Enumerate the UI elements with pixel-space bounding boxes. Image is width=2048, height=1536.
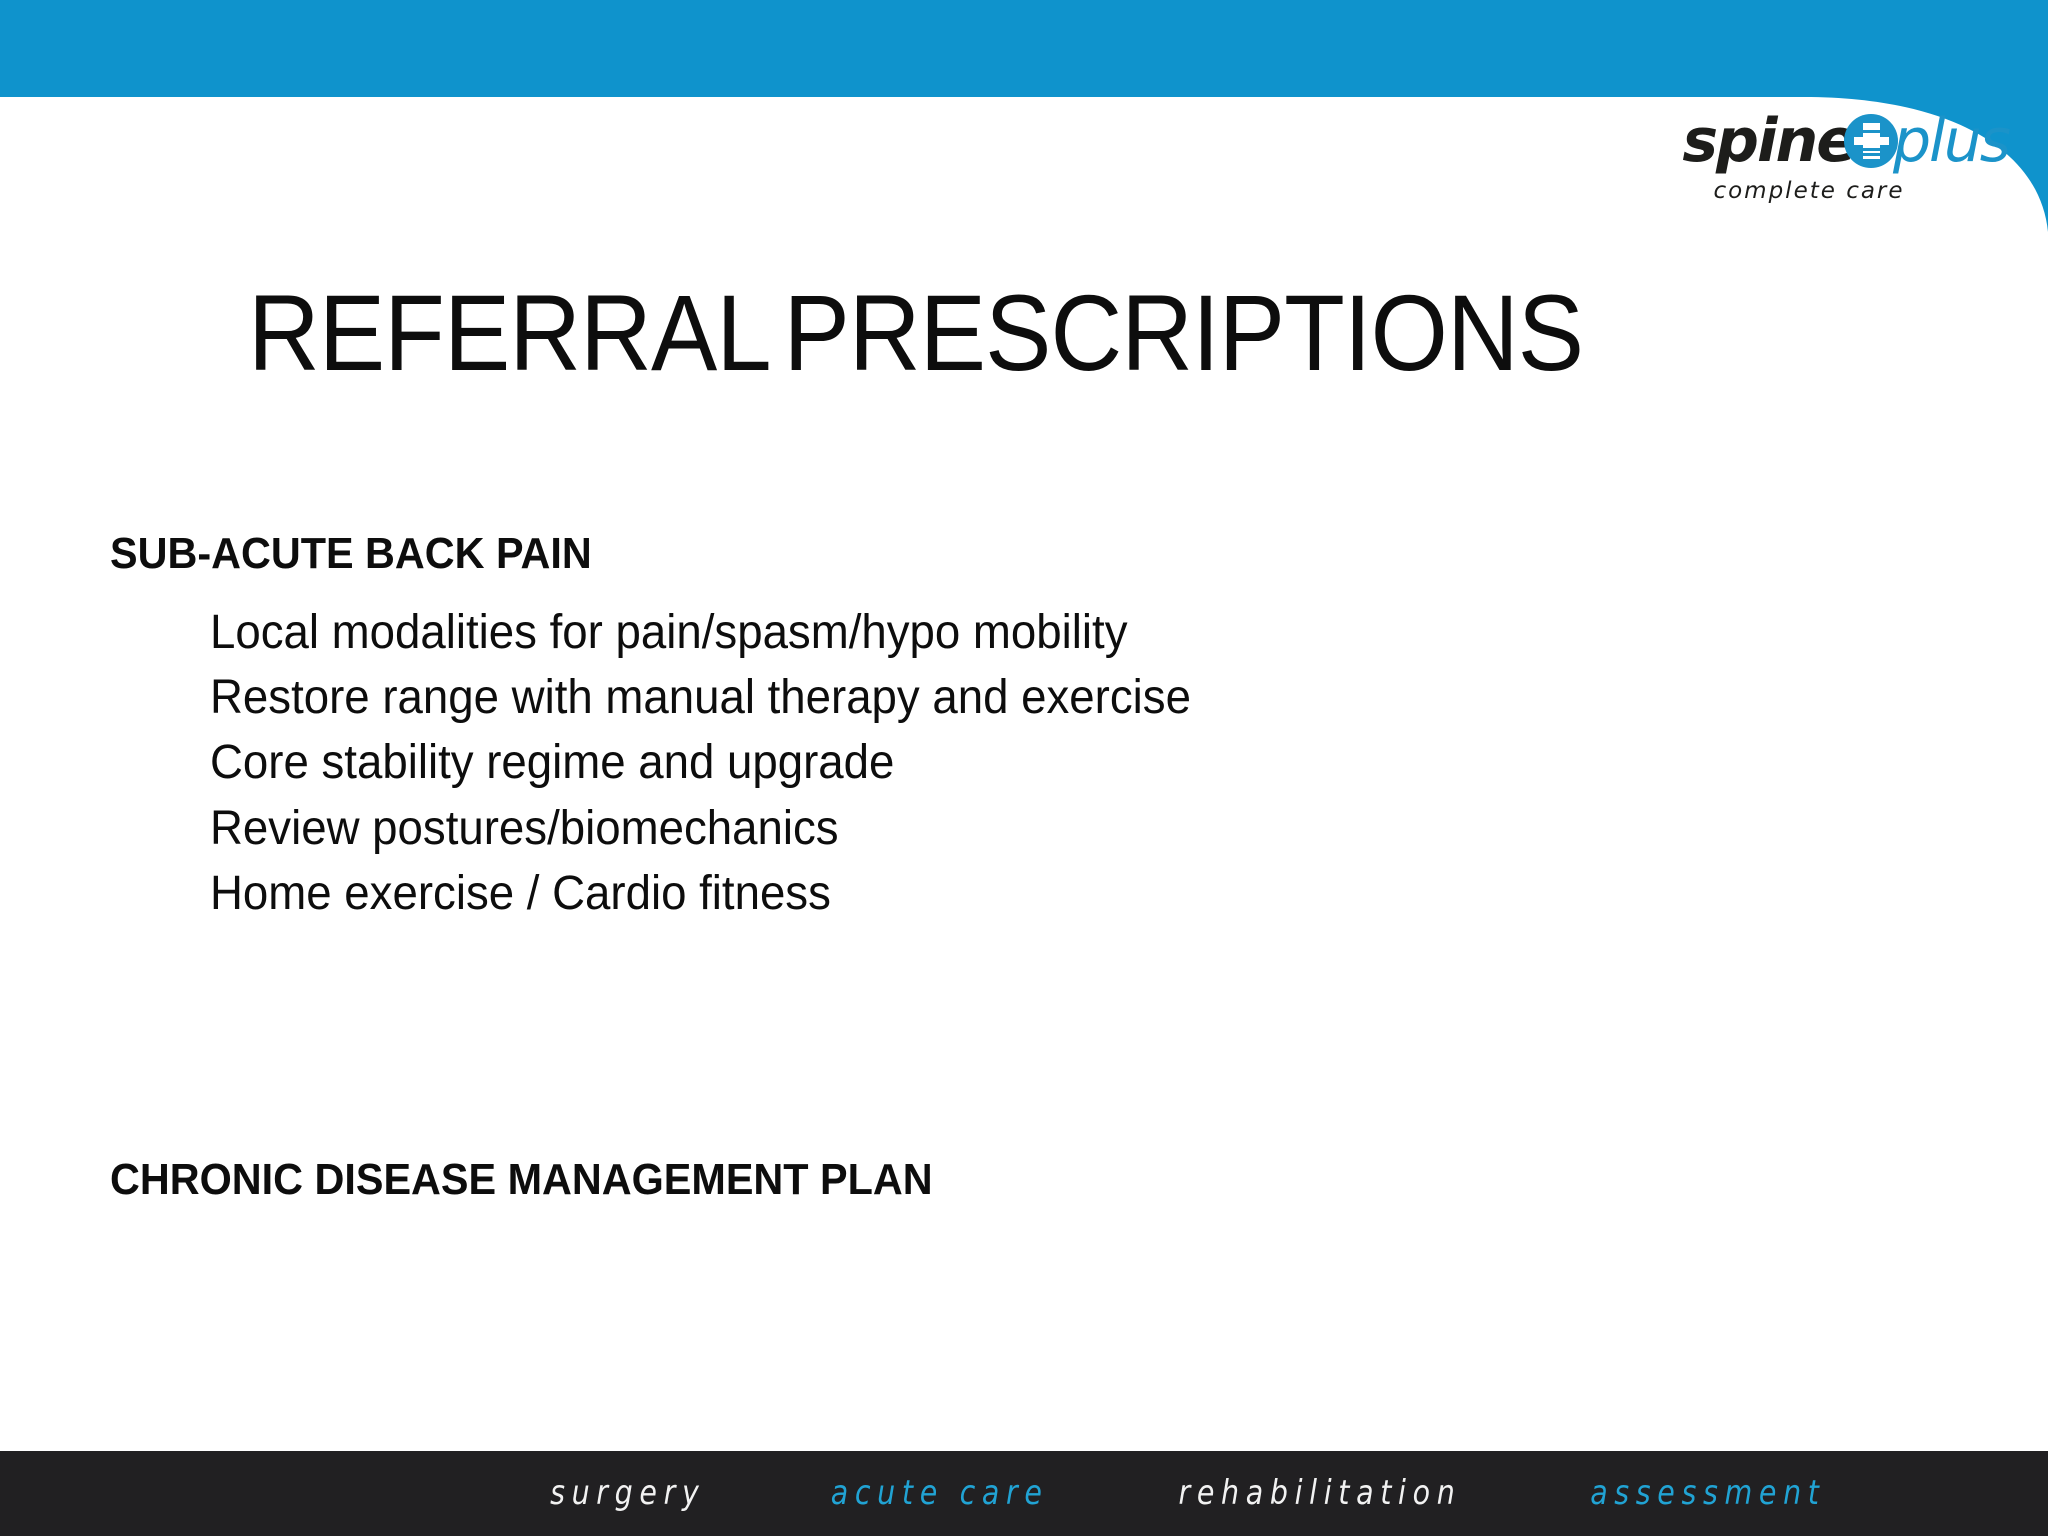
slide-canvas: spine plus complete care REFERRALPRESCRI… — [0, 0, 2048, 1536]
section-heading-chronic-disease-management-plan: CHRONIC DISEASE MANAGEMENT PLAN — [110, 1154, 1708, 1206]
section-heading-sub-acute-back-pain: SUB-ACUTE BACK PAIN — [110, 528, 1708, 580]
logo-word-plus: plus — [1893, 111, 2009, 171]
spine-vertebra-icon — [1843, 113, 1899, 169]
page-title-part-1: REFERRAL — [248, 272, 771, 393]
footer-item-surgery: surgery — [550, 1474, 705, 1513]
list-item: Core stability regime and upgrade — [210, 730, 1730, 795]
list-item: Local modalities for pain/spasm/hypo mob… — [210, 600, 1730, 665]
footer-item-assessment: assessment — [1591, 1474, 1826, 1513]
list-item: Review postures/biomechanics — [210, 796, 1730, 861]
footer-item-rehabilitation: rehabilitation — [1178, 1474, 1461, 1513]
logo-wordmark: spine plus — [1645, 108, 2025, 174]
logo-tagline: complete care — [1645, 178, 2025, 204]
body-spacer — [110, 926, 1810, 1154]
footer-item-acute-care: acute care — [831, 1474, 1049, 1513]
bullet-list-sub-acute-back-pain: Local modalities for pain/spasm/hypo mob… — [110, 600, 1810, 926]
page-title-part-2: PRESCRIPTIONS — [784, 272, 1584, 393]
brand-logo: spine plus complete care — [1645, 108, 2025, 228]
list-item: Restore range with manual therapy and ex… — [210, 665, 1730, 730]
page-title: REFERRALPRESCRIPTIONS — [248, 276, 1583, 389]
list-item: Home exercise / Cardio fitness — [210, 861, 1730, 926]
slide-body: SUB-ACUTE BACK PAIN Local modalities for… — [110, 528, 1810, 1206]
footer-items: surgery acute care rehabilitation assess… — [0, 1451, 2048, 1536]
logo-word-spine: spine — [1682, 111, 1855, 171]
footer-bar: surgery acute care rehabilitation assess… — [0, 1448, 2048, 1536]
